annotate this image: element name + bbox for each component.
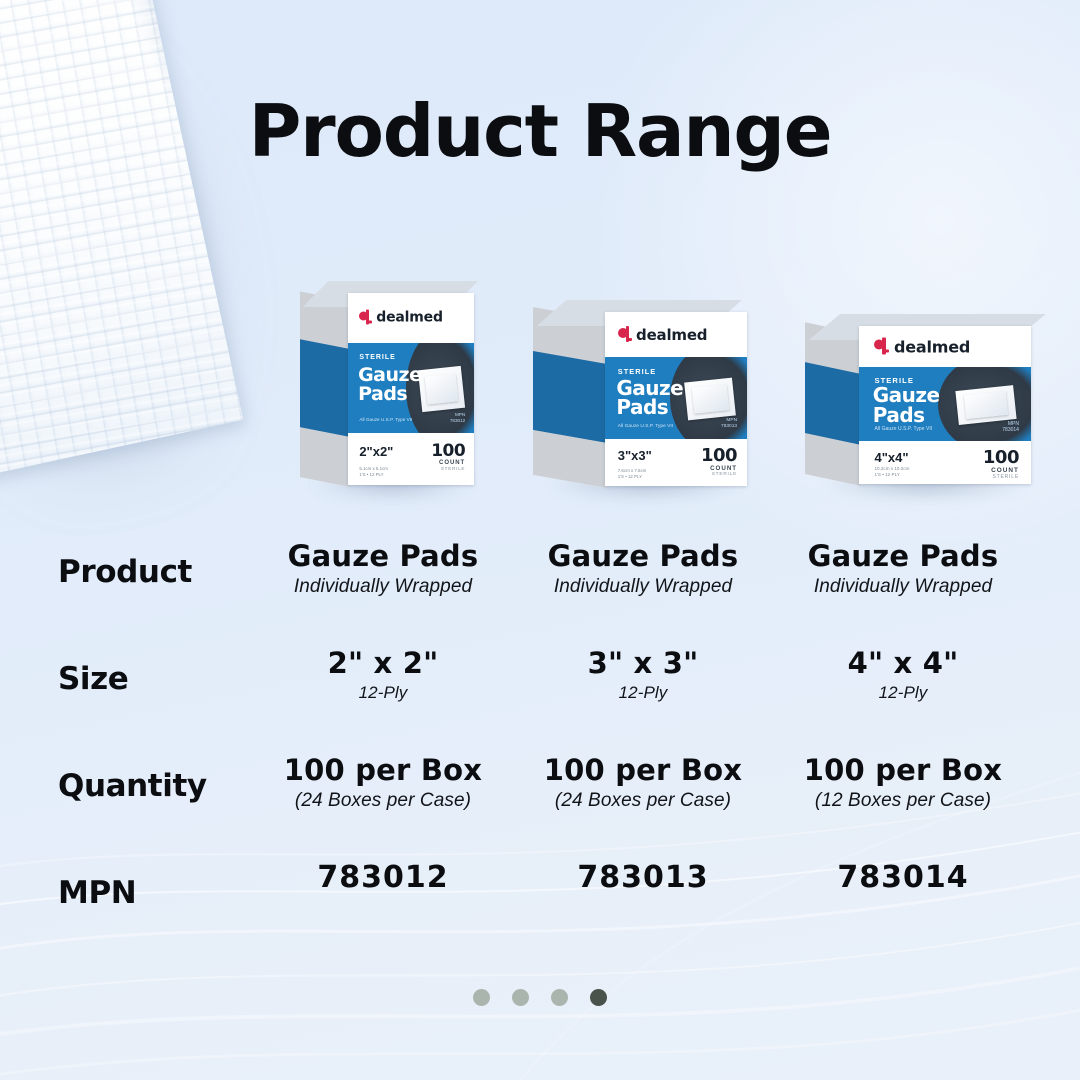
box-product-name: Gauze Pads [358,366,421,403]
cell-quantity-col2: 100 per Box (24 Boxes per Case) [518,754,768,812]
box-size-label: 3"x3" [618,449,652,463]
table-row-quantity: Quantity 100 per Box (24 Boxes per Case)… [0,754,1080,861]
cell-sub: 12-Ply [778,683,1028,703]
box-sterile-label: STERILE [359,354,395,361]
table-row-product: Product Gauze Pads Individually Wrapped … [0,540,1080,647]
brand-name: dealmed [636,326,707,344]
cell-size-col2: 3" x 3" 12-Ply [518,647,768,703]
comparison-table: Product Gauze Pads Individually Wrapped … [0,540,1080,968]
pagination-dot-3[interactable] [551,989,568,1006]
cell-main: 100 per Box [778,754,1028,786]
table-row-mpn: MPN 783012 783013 783014 [0,861,1080,968]
box-ply-label: 1'S • 12 PLY [618,474,647,480]
cell-main: 100 per Box [258,754,508,786]
cell-main: 2" x 2" [258,647,508,679]
box-count-block: 100 COUNT STERILE [701,447,737,477]
infographic-canvas: Product Range [0,0,1080,1080]
box-size-metric: 7.6cm x 7.6cm [618,468,647,474]
box-count-sterile: STERILE [983,474,1019,480]
box-count-number: 100 [983,449,1019,467]
pagination-dot-4[interactable] [590,989,607,1006]
cell-sub: Individually Wrapped [778,576,1028,598]
box-side-panel [805,322,861,486]
cell-main: 4" x 4" [778,647,1028,679]
cell-sub: (24 Boxes per Case) [518,790,768,812]
cell-product-col1: Gauze Pads Individually Wrapped [258,540,508,598]
row-label-mpn: MPN [58,875,136,911]
box-art-gauze-pad [955,385,1017,425]
cell-sub: Individually Wrapped [258,576,508,598]
box-size-label: 2"x2" [359,445,393,459]
cell-product-col2: Gauze Pads Individually Wrapped [518,540,768,598]
box-spec-text: All Gauze U.S.P. Type VII [618,424,673,429]
cell-mpn-col1: 783012 [258,861,508,895]
box-count-block: 100 COUNT STERILE [983,449,1019,480]
box-count-number: 100 [701,447,737,465]
box-side-panel [533,307,607,488]
dealmed-logo-icon [618,326,632,344]
box-mpn-value: 783014 [1002,427,1019,433]
carousel-pagination[interactable] [0,989,1080,1006]
cell-sub: 12-Ply [518,683,768,703]
row-label-quantity: Quantity [58,768,207,804]
box-mpn-value: 783013 [721,424,737,430]
box-product-name-line2: Pads [873,406,940,426]
dealmed-logo-icon [874,337,889,356]
box-spec-text: All Gauze U.S.P. Type VII [874,426,932,432]
box-side-panel [300,291,350,487]
box-count-number: 100 [431,443,465,460]
box-count-sterile: STERILE [701,472,737,477]
cell-main: 3" x 3" [518,647,768,679]
cell-size-col1: 2" x 2" 12-Ply [258,647,508,703]
cell-product-col3: Gauze Pads Individually Wrapped [778,540,1028,598]
box-ply-label: 1'S • 12 PLY [359,472,388,478]
cell-mpn-col2: 783013 [518,861,768,895]
cell-mpn-col3: 783014 [778,861,1028,895]
box-mpn-block: MPN 783012 [450,412,465,423]
cell-main: 783013 [518,861,768,895]
cell-sub: Individually Wrapped [518,576,768,598]
box-mpn-value: 783012 [450,418,465,424]
box-product-name-line2: Pads [616,398,683,418]
box-product-name: Gauze Pads [616,379,683,418]
cell-main: Gauze Pads [518,540,768,572]
cell-quantity-col3: 100 per Box (12 Boxes per Case) [778,754,1028,812]
product-box-gauze-3x3: dealmed STERILE Gauze Pads All Gauze U.S… [533,290,749,490]
box-front-panel: dealmed STERILE Gauze Pads All Gauze U.S… [859,326,1031,484]
cell-main: Gauze Pads [778,540,1028,572]
cell-size-col3: 4" x 4" 12-Ply [778,647,1028,703]
row-label-product: Product [58,554,192,590]
box-front-panel: dealmed STERILE Gauze Pads All Gauze U.S… [605,312,747,486]
product-box-row: dealmed STERILE Gauze Pads All Gauze U.S… [0,255,1080,490]
page-title: Product Range [0,95,1080,167]
box-product-name-line2: Pads [358,385,421,404]
box-count-label: COUNT [983,467,1019,474]
cell-main: 783012 [258,861,508,895]
box-mpn-block: MPN 783014 [1002,421,1019,434]
cell-main: 783014 [778,861,1028,895]
box-spec-text: All Gauze U.S.P. Type VII [359,417,412,422]
cell-main: 100 per Box [518,754,768,786]
box-art-gauze-pad [684,378,736,420]
box-count-block: 100 COUNT STERILE [431,443,465,471]
box-size-meta: 7.6cm x 7.6cm 1'S • 12 PLY [618,468,647,479]
brand-lockup: dealmed [359,309,438,326]
brand-lockup: dealmed [618,326,703,344]
brand-name: dealmed [894,337,970,356]
box-front-panel: dealmed STERILE Gauze Pads All Gauze U.S… [348,293,474,485]
box-product-name: Gauze Pads [873,386,940,425]
cell-quantity-col1: 100 per Box (24 Boxes per Case) [258,754,508,812]
box-sterile-label: STERILE [618,367,656,376]
box-size-meta: 10.2cm x 10.2cm 1'S • 12 PLY [874,466,909,478]
row-label-size: Size [58,661,128,697]
brand-name: dealmed [376,310,442,326]
brand-lockup: dealmed [874,337,965,356]
box-size-label: 4"x4" [874,451,908,465]
pagination-dot-1[interactable] [473,989,490,1006]
cell-sub: (12 Boxes per Case) [778,790,1028,812]
table-row-size: Size 2" x 2" 12-Ply 3" x 3" 12-Ply 4" x … [0,647,1080,754]
pagination-dot-2[interactable] [512,989,529,1006]
cell-sub: (24 Boxes per Case) [258,790,508,812]
cell-sub: 12-Ply [258,683,508,703]
box-ply-label: 1'S • 12 PLY [874,472,909,478]
cell-main: Gauze Pads [258,540,508,572]
product-box-gauze-4x4: dealmed STERILE Gauze Pads All Gauze U.S… [805,302,1035,490]
box-art-gauze-pad [418,366,465,412]
product-box-gauze-2x2: dealmed STERILE Gauze Pads All Gauze U.S… [300,275,478,490]
dealmed-logo-icon [359,309,372,326]
box-count-sterile: STERILE [431,466,465,471]
box-mpn-block: MPN 783013 [721,418,737,430]
box-size-meta: 5.1cm x 5.1cm 1'S • 12 PLY [359,466,388,477]
